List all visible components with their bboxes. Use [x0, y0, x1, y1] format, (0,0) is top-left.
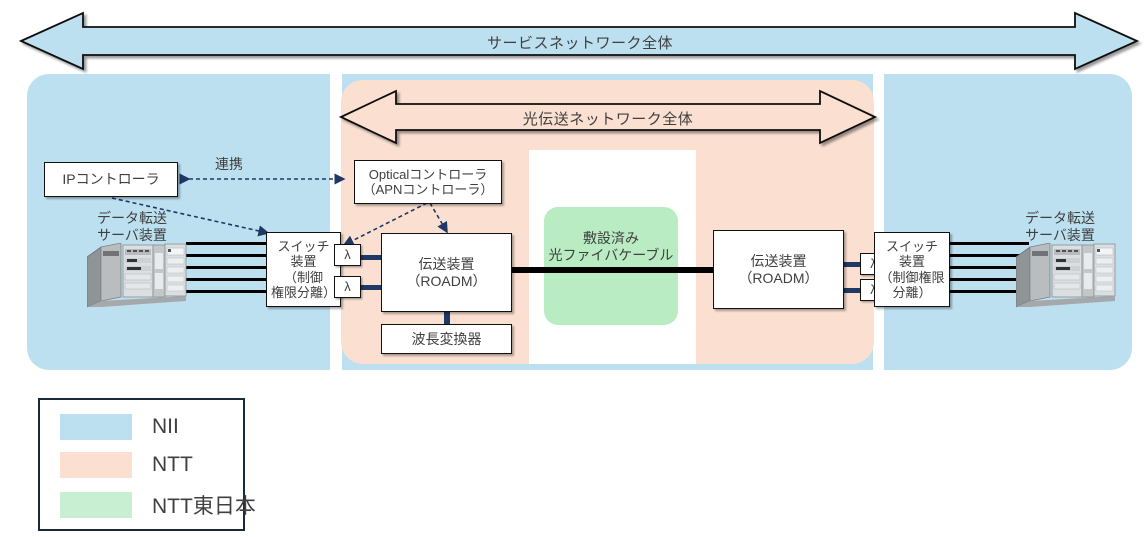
server-left-icon	[87, 243, 187, 311]
node-switch-right[interactable]: スイッチ 装置 （制御権限 分離）	[874, 232, 950, 307]
legend-swatch-ntt-east	[60, 492, 132, 518]
legend-swatch-nii	[60, 414, 132, 440]
legend-panel: NII NTT NTT東日本	[38, 398, 245, 531]
legend-label-ntt-east: NTT東日本	[152, 490, 256, 520]
fiber-cable-label: 敷設済み 光ファイバケーブル	[544, 230, 678, 264]
diagram-canvas: サービスネットワーク全体 光伝送ネットワーク全体	[0, 0, 1147, 537]
server-left-label: データ転送 サーバ装置	[72, 210, 192, 244]
legend-label-nii: NII	[152, 415, 179, 439]
node-wavelength-converter[interactable]: 波長変換器	[381, 324, 512, 354]
legend-label-ntt: NTT	[152, 453, 193, 477]
cooperation-label: 連携	[199, 156, 259, 173]
node-lambda-left-bottom[interactable]: λ	[334, 276, 361, 298]
legend-item-nii: NII	[60, 414, 179, 440]
node-optical-controller[interactable]: Opticalコントローラ （APNコントローラ）	[354, 160, 502, 204]
legend-item-ntt: NTT	[60, 452, 193, 478]
node-ip-controller[interactable]: IPコントローラ	[44, 162, 178, 197]
node-lambda-left-top[interactable]: λ	[334, 244, 361, 266]
node-switch-left[interactable]: スイッチ 装置 （制御 権限分離）	[266, 232, 341, 307]
legend-item-ntt-east: NTT東日本	[60, 490, 256, 520]
node-roadm-left[interactable]: 伝送装置 （ROADM）	[381, 233, 512, 312]
legend-swatch-ntt	[60, 452, 132, 478]
server-right-label: データ転送 サーバ装置	[1000, 210, 1120, 244]
server-right-icon	[1016, 243, 1116, 311]
node-roadm-right[interactable]: 伝送装置 （ROADM）	[713, 230, 844, 309]
